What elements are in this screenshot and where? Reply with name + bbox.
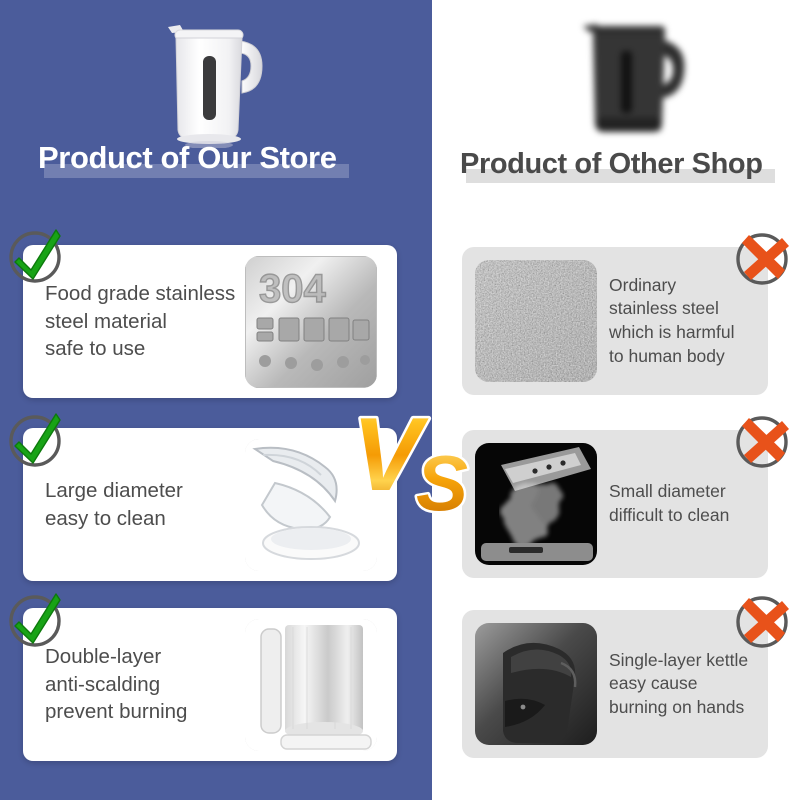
check-icon [6, 592, 64, 650]
black-kettle-image [575, 6, 710, 146]
our-feature-card-1: Food grade stainless steel material safe… [23, 245, 397, 398]
cross-icon [733, 593, 791, 651]
steel-304-stamp-image: 304 [245, 256, 377, 388]
our-store-title-text: Product of Our Store [38, 140, 337, 175]
svg-text:304: 304 [259, 267, 326, 311]
our-feature-text-3: Double-layer anti-scalding prevent burni… [23, 643, 241, 725]
white-kettle-image [150, 8, 290, 148]
single-layer-black-kettle-image [475, 623, 597, 745]
other-feature-card-2: Small diameter difficult to clean [462, 430, 768, 578]
page-title-other-shop: Product of Other Shop [460, 148, 763, 181]
vs-badge: V S [348, 398, 496, 526]
double-layer-inner-pot-image [245, 619, 377, 751]
other-feature-card-1: Ordinary stainless steel which is harmfu… [462, 247, 768, 395]
our-feature-card-2: Large diameter easy to clean [23, 428, 397, 581]
other-shop-title-text: Product of Other Shop [460, 148, 763, 180]
check-icon [6, 412, 64, 470]
our-feature-text-1: Food grade stainless steel material safe… [23, 280, 241, 362]
check-icon [6, 228, 64, 286]
cross-icon [733, 413, 791, 471]
other-feature-text-2: Small diameter difficult to clean [597, 480, 762, 527]
cross-icon [733, 230, 791, 288]
other-feature-text-3: Single-layer kettle easy cause burning o… [597, 649, 762, 720]
comparison-infographic: Product of Our Store Product of Other Sh… [0, 0, 800, 800]
page-title-our-store: Product of Our Store [38, 140, 337, 176]
svg-text:S: S [416, 439, 468, 526]
our-feature-card-3: Double-layer anti-scalding prevent burni… [23, 608, 397, 761]
ordinary-steel-texture-image [475, 260, 597, 382]
our-feature-text-2: Large diameter easy to clean [23, 477, 241, 532]
other-feature-card-3: Single-layer kettle easy cause burning o… [462, 610, 768, 758]
